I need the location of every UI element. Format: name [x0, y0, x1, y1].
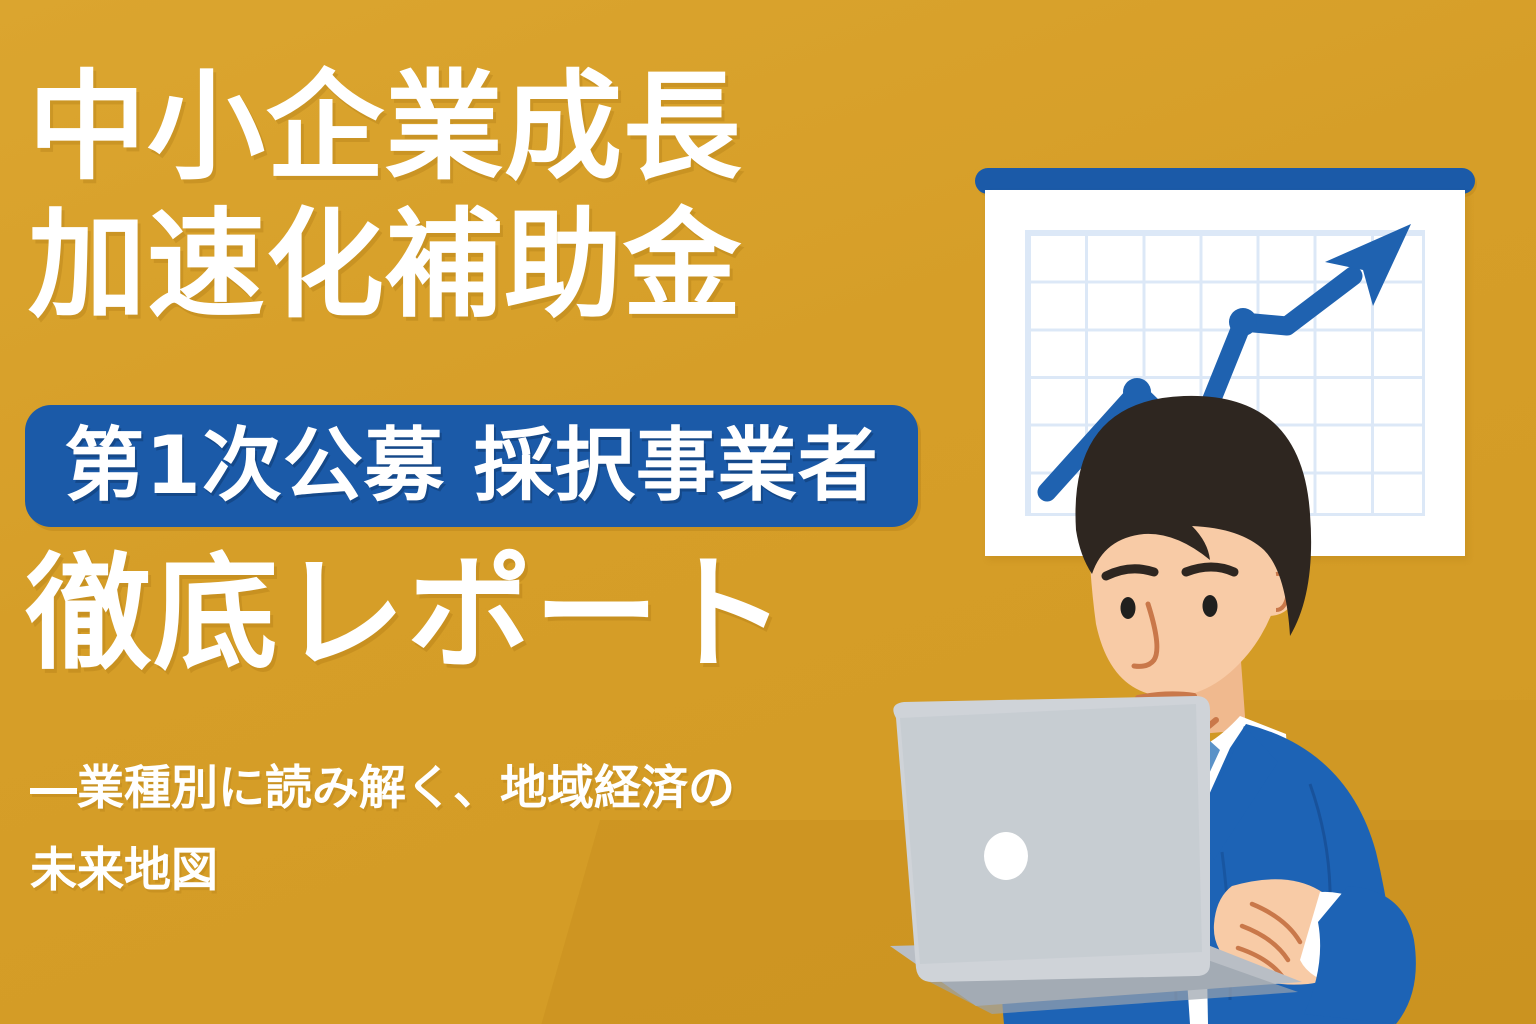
- status-badge-label: 第1次公募 採択事業者: [64, 426, 879, 506]
- subtitle: ―業種別に読み解く、地域経済の 未来地図: [30, 748, 930, 912]
- laptop-logo: [984, 832, 1028, 880]
- page-title-line-2: 加速化補助金: [28, 196, 928, 334]
- page-title: 中小企業成長 加速化補助金: [28, 58, 928, 334]
- businessman-illustration: [880, 380, 1536, 1024]
- subtitle-line-1: ―業種別に読み解く、地域経済の: [30, 748, 930, 830]
- page-title-line-1: 中小企業成長: [28, 58, 928, 196]
- head: [1075, 396, 1311, 741]
- text-column: 中小企業成長 加速化補助金 第1次公募 採択事業者 徹底レポート ―業種別に読み…: [0, 0, 960, 1024]
- status-badge: 第1次公募 採択事業者: [25, 405, 918, 527]
- poster-canvas: 中小企業成長 加速化補助金 第1次公募 採択事業者 徹底レポート ―業種別に読み…: [0, 0, 1536, 1024]
- report-title: 徹底レポート: [26, 552, 788, 677]
- subtitle-line-2: 未来地図: [30, 830, 930, 912]
- eye-right: [1203, 595, 1218, 617]
- eye-left: [1121, 597, 1136, 619]
